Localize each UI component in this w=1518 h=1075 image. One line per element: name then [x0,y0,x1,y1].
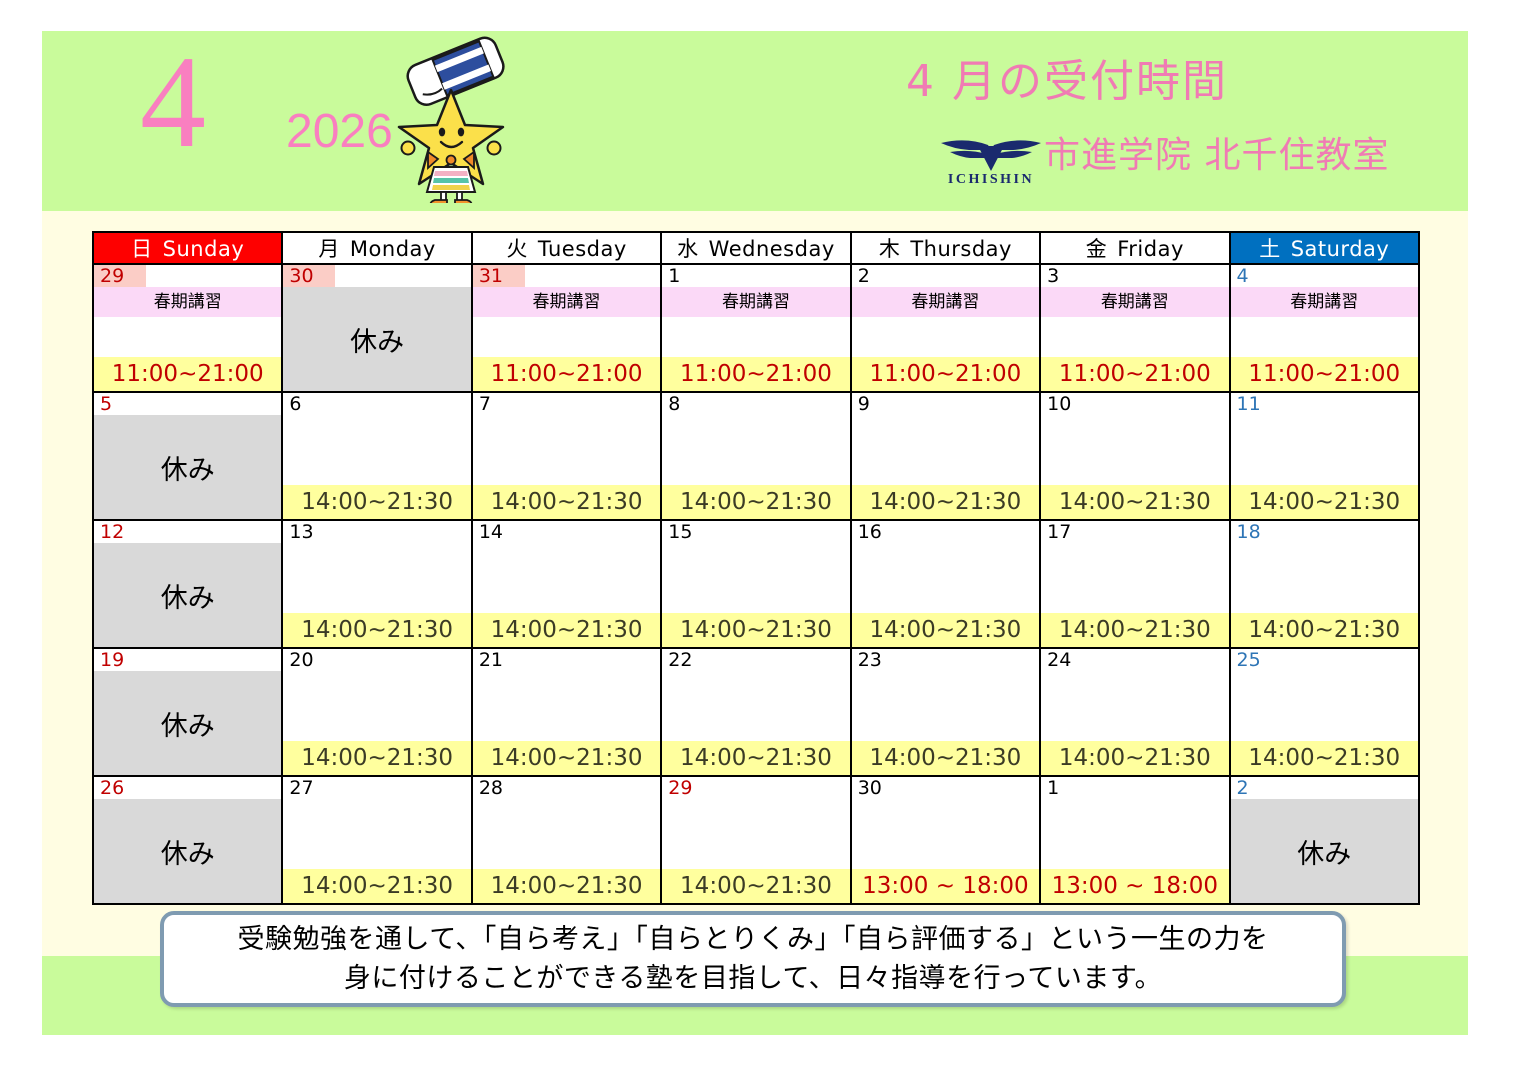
calendar-day-cell[interactable]: 2114:00~21:30 [472,648,661,776]
closed-badge: 休み [94,671,281,775]
day-number: 26 [94,777,146,799]
opening-hours: 11:00~21:00 [473,357,660,391]
calendar-week-row: 19休み2014:00~21:302114:00~21:302214:00~21… [93,648,1419,776]
opening-hours: 11:00~21:00 [94,357,281,391]
column-header-tuesday: 火Tuesday [472,232,661,264]
column-header-en: Monday [350,237,436,261]
day-cell-inner: 1714:00~21:30 [1041,521,1228,647]
day-number-row: 22 [662,649,849,671]
day-number: 30 [283,265,335,287]
column-header-jp: 日 [131,237,153,261]
opening-hours: 11:00~21:00 [852,357,1039,391]
opening-hours: 14:00~21:30 [283,869,470,903]
column-header-jp: 土 [1259,237,1281,261]
day-cell-inner: 814:00~21:30 [662,393,849,519]
day-cell-inner: 3013:00 ~ 18:00 [852,777,1039,903]
calendar-day-cell[interactable]: 3春期講習11:00~21:00 [1040,264,1229,392]
opening-hours: 14:00~21:30 [473,741,660,775]
day-number-row: 24 [1041,649,1228,671]
calendar-day-cell[interactable]: 5休み [93,392,282,520]
day-number-row: 31 [473,265,660,287]
day-number-row: 18 [1231,521,1418,543]
calendar-day-cell[interactable]: 1514:00~21:30 [661,520,850,648]
calendar-day-cell[interactable]: 2214:00~21:30 [661,648,850,776]
opening-hours: 14:00~21:30 [1231,613,1418,647]
calendar-day-cell[interactable]: 714:00~21:30 [472,392,661,520]
day-cell-inner: 30休み [283,265,470,391]
day-cell-inner: 1014:00~21:30 [1041,393,1228,519]
day-number: 2 [1231,777,1283,799]
calendar-day-cell[interactable]: 29春期講習11:00~21:00 [93,264,282,392]
column-header-en: Sunday [163,237,245,261]
mission-line-1: 受験勉強を通して、「自ら考え」「自らとりくみ」「自ら評価する」という一生の力を [238,920,1269,959]
closed-badge: 休み [94,543,281,647]
wings-emblem-icon [936,132,1046,176]
day-cell-inner: 2314:00~21:30 [852,649,1039,775]
day-number: 19 [94,649,146,671]
logo-wordmark: ICHISHIN [936,172,1046,188]
calendar-day-cell[interactable]: 2414:00~21:30 [1040,648,1229,776]
opening-hours: 11:00~21:00 [1231,357,1418,391]
calendar-day-cell[interactable]: 1814:00~21:30 [1230,520,1419,648]
column-header-wednesday: 水Wednesday [661,232,850,264]
calendar-day-cell[interactable]: 3013:00 ~ 18:00 [851,776,1040,904]
column-header-sunday: 日Sunday [93,232,282,264]
day-number-row: 29 [662,777,849,799]
opening-hours: 14:00~21:30 [852,741,1039,775]
calendar-day-cell[interactable]: 30休み [282,264,471,392]
opening-hours: 14:00~21:30 [1041,613,1228,647]
star-mascot-icon [386,28,516,203]
day-cell-inner: 1314:00~21:30 [283,521,470,647]
day-number: 13 [283,521,335,543]
day-number: 29 [662,777,714,799]
calendar-day-cell[interactable]: 31春期講習11:00~21:00 [472,264,661,392]
column-header-jp: 木 [879,237,901,261]
day-cell-inner: 2114:00~21:30 [473,649,660,775]
closed-badge: 休み [283,287,470,391]
day-number-row: 13 [283,521,470,543]
day-number-row: 28 [473,777,660,799]
day-number: 14 [473,521,525,543]
column-header-jp: 月 [318,237,340,261]
opening-hours: 14:00~21:30 [1231,485,1418,519]
day-cell-inner: 2814:00~21:30 [473,777,660,903]
opening-hours: 14:00~21:30 [283,741,470,775]
calendar-header-row: 日Sunday月Monday火Tuesday水Wednesday木Thursda… [93,232,1419,264]
calendar-day-cell[interactable]: 113:00 ~ 18:00 [1040,776,1229,904]
day-number: 7 [473,393,525,415]
calendar-day-cell[interactable]: 1春期講習11:00~21:00 [661,264,850,392]
column-header-en: Saturday [1291,237,1390,261]
day-number: 27 [283,777,335,799]
day-number-row: 25 [1231,649,1418,671]
calendar-day-cell[interactable]: 2814:00~21:30 [472,776,661,904]
day-number: 1 [662,265,714,287]
closed-badge: 休み [1231,799,1418,903]
day-cell-inner: 31春期講習11:00~21:00 [473,265,660,391]
opening-hours: 14:00~21:30 [1231,741,1418,775]
day-cell-inner: 2休み [1231,777,1418,903]
day-number: 20 [283,649,335,671]
column-header-en: Tuesday [538,237,627,261]
mission-statement-box: 受験勉強を通して、「自ら考え」「自らとりくみ」「自ら評価する」という一生の力を … [160,911,1346,1007]
day-number: 21 [473,649,525,671]
day-cell-inner: 19休み [94,649,281,775]
calendar-day-cell[interactable]: 4春期講習11:00~21:00 [1230,264,1419,392]
opening-hours: 14:00~21:30 [1041,741,1228,775]
calendar-week-row: 29春期講習11:00~21:0030休み31春期講習11:00~21:001春… [93,264,1419,392]
school-name: 市進学院 北千住教室 [1044,136,1389,176]
closed-badge: 休み [94,415,281,519]
day-number: 6 [283,393,335,415]
month-number: 4 [140,36,206,168]
day-number-row: 16 [852,521,1039,543]
calendar-day-cell[interactable]: 2914:00~21:30 [661,776,850,904]
opening-hours: 14:00~21:30 [662,485,849,519]
day-number: 2 [852,265,904,287]
calendar-day-cell[interactable]: 19休み [93,648,282,776]
day-cell-inner: 4春期講習11:00~21:00 [1231,265,1418,391]
day-number: 15 [662,521,714,543]
day-cell-inner: 5休み [94,393,281,519]
day-number: 16 [852,521,904,543]
day-number: 11 [1231,393,1283,415]
column-header-en: Wednesday [709,237,835,261]
calendar-day-cell[interactable]: 2314:00~21:30 [851,648,1040,776]
day-number: 23 [852,649,904,671]
column-header-jp: 水 [677,237,699,261]
day-number-row: 21 [473,649,660,671]
opening-hours: 14:00~21:30 [473,485,660,519]
day-cell-inner: 2914:00~21:30 [662,777,849,903]
day-cell-inner: 614:00~21:30 [283,393,470,519]
day-number-row: 14 [473,521,660,543]
opening-hours: 14:00~21:30 [662,869,849,903]
day-number: 28 [473,777,525,799]
column-header-jp: 火 [506,237,528,261]
calendar-day-cell[interactable]: 12休み [93,520,282,648]
column-header-friday: 金Friday [1040,232,1229,264]
day-cell-inner: 2214:00~21:30 [662,649,849,775]
calendar-week-row: 26休み2714:00~21:302814:00~21:302914:00~21… [93,776,1419,904]
page-title: 4 月の受付時間 [906,58,1228,106]
day-number-row: 30 [283,265,470,287]
day-number-row: 10 [1041,393,1228,415]
day-cell-inner: 12休み [94,521,281,647]
opening-hours: 11:00~21:00 [1041,357,1228,391]
day-number-row: 9 [852,393,1039,415]
day-number: 22 [662,649,714,671]
day-number-row: 2 [852,265,1039,287]
day-cell-inner: 714:00~21:30 [473,393,660,519]
day-number-row: 1 [662,265,849,287]
day-number-row: 20 [283,649,470,671]
calendar-day-cell[interactable]: 2春期講習11:00~21:00 [851,264,1040,392]
course-label: 春期講習 [94,287,281,317]
schedule-calendar: 日Sunday月Monday火Tuesday水Wednesday木Thursda… [92,231,1420,905]
day-number: 25 [1231,649,1283,671]
calendar-day-cell[interactable]: 2714:00~21:30 [282,776,471,904]
day-number-row: 17 [1041,521,1228,543]
day-cell-inner: 2春期講習11:00~21:00 [852,265,1039,391]
opening-hours: 13:00 ~ 18:00 [1041,869,1228,903]
calendar-day-cell[interactable]: 1114:00~21:30 [1230,392,1419,520]
day-number-row: 26 [94,777,281,799]
calendar-day-cell[interactable]: 26休み [93,776,282,904]
day-number: 8 [662,393,714,415]
column-header-thursday: 木Thursday [851,232,1040,264]
header-green-band [42,31,1468,211]
ichishin-logo: ICHISHIN [936,132,1046,192]
day-cell-inner: 1614:00~21:30 [852,521,1039,647]
calendar-day-cell[interactable]: 1414:00~21:30 [472,520,661,648]
day-cell-inner: 2414:00~21:30 [1041,649,1228,775]
day-cell-inner: 1814:00~21:30 [1231,521,1418,647]
calendar-poster: 4 2026 4 月の受付時間 [0,0,1518,1075]
day-number-row: 30 [852,777,1039,799]
calendar-day-cell[interactable]: 2014:00~21:30 [282,648,471,776]
column-header-saturday: 土Saturday [1230,232,1419,264]
opening-hours: 14:00~21:30 [852,613,1039,647]
course-label: 春期講習 [852,287,1039,317]
day-number-row: 6 [283,393,470,415]
day-number: 10 [1041,393,1093,415]
column-header-en: Thursday [910,237,1012,261]
calendar-body: 29春期講習11:00~21:0030休み31春期講習11:00~21:001春… [93,264,1419,904]
year-label: 2026 [286,108,393,156]
day-number-row: 8 [662,393,849,415]
column-header-jp: 金 [1086,237,1108,261]
course-label: 春期講習 [1041,287,1228,317]
course-label: 春期講習 [662,287,849,317]
calendar-day-cell[interactable]: 814:00~21:30 [661,392,850,520]
day-number: 4 [1231,265,1283,287]
day-cell-inner: 2014:00~21:30 [283,649,470,775]
opening-hours: 14:00~21:30 [473,869,660,903]
day-number: 29 [94,265,146,287]
column-header-en: Friday [1117,237,1184,261]
day-number-row: 12 [94,521,281,543]
day-number: 30 [852,777,904,799]
day-number-row: 27 [283,777,470,799]
day-number: 18 [1231,521,1283,543]
day-cell-inner: 26休み [94,777,281,903]
opening-hours: 14:00~21:30 [1041,485,1228,519]
day-cell-inner: 2514:00~21:30 [1231,649,1418,775]
opening-hours: 14:00~21:30 [283,485,470,519]
calendar-week-row: 12休み1314:00~21:301414:00~21:301514:00~21… [93,520,1419,648]
day-number-row: 5 [94,393,281,415]
day-number-row: 19 [94,649,281,671]
day-number: 17 [1041,521,1093,543]
course-label: 春期講習 [473,287,660,317]
opening-hours: 14:00~21:30 [283,613,470,647]
course-label: 春期講習 [1231,287,1418,317]
opening-hours: 14:00~21:30 [852,485,1039,519]
day-number: 24 [1041,649,1093,671]
day-number-row: 7 [473,393,660,415]
opening-hours: 14:00~21:30 [662,741,849,775]
day-number: 5 [94,393,146,415]
calendar-day-cell[interactable]: 1014:00~21:30 [1040,392,1229,520]
day-number-row: 2 [1231,777,1418,799]
calendar-day-cell[interactable]: 1714:00~21:30 [1040,520,1229,648]
mission-line-2: 身に付けることができる塾を目指して、日々指導を行っています。 [344,959,1162,998]
day-cell-inner: 1414:00~21:30 [473,521,660,647]
calendar-week-row: 5休み614:00~21:30714:00~21:30814:00~21:309… [93,392,1419,520]
day-number: 12 [94,521,146,543]
opening-hours: 14:00~21:30 [473,613,660,647]
day-cell-inner: 1114:00~21:30 [1231,393,1418,519]
opening-hours: 13:00 ~ 18:00 [852,869,1039,903]
calendar-day-cell[interactable]: 614:00~21:30 [282,392,471,520]
day-number: 31 [473,265,525,287]
day-number: 9 [852,393,904,415]
day-number-row: 11 [1231,393,1418,415]
day-cell-inner: 914:00~21:30 [852,393,1039,519]
opening-hours: 14:00~21:30 [662,613,849,647]
day-number: 1 [1041,777,1093,799]
day-cell-inner: 1514:00~21:30 [662,521,849,647]
calendar-day-cell[interactable]: 914:00~21:30 [851,392,1040,520]
calendar-day-cell[interactable]: 1314:00~21:30 [282,520,471,648]
day-cell-inner: 3春期講習11:00~21:00 [1041,265,1228,391]
calendar-day-cell[interactable]: 2514:00~21:30 [1230,648,1419,776]
day-number: 3 [1041,265,1093,287]
day-number-row: 15 [662,521,849,543]
closed-badge: 休み [94,799,281,903]
day-number-row: 4 [1231,265,1418,287]
day-number-row: 1 [1041,777,1228,799]
day-cell-inner: 29春期講習11:00~21:00 [94,265,281,391]
day-number-row: 23 [852,649,1039,671]
opening-hours: 11:00~21:00 [662,357,849,391]
day-number-row: 3 [1041,265,1228,287]
day-number-row: 29 [94,265,281,287]
column-header-monday: 月Monday [282,232,471,264]
day-cell-inner: 2714:00~21:30 [283,777,470,903]
day-cell-inner: 113:00 ~ 18:00 [1041,777,1228,903]
calendar-day-cell[interactable]: 1614:00~21:30 [851,520,1040,648]
day-cell-inner: 1春期講習11:00~21:00 [662,265,849,391]
calendar-day-cell[interactable]: 2休み [1230,776,1419,904]
